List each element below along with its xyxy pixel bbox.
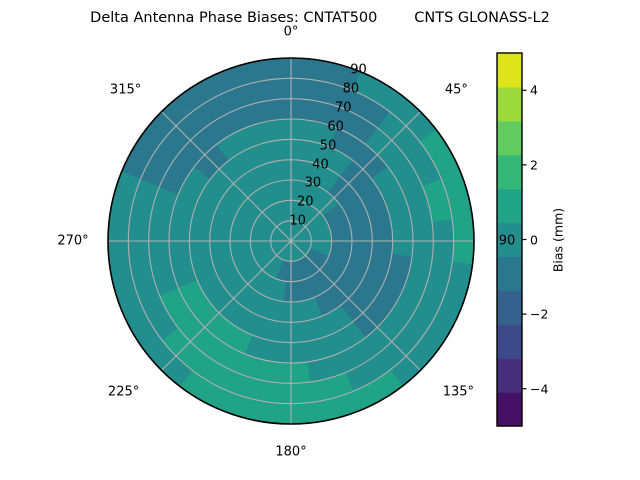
radial-tick-label: 60: [327, 119, 344, 134]
colorbar-tick-label: 4: [530, 83, 538, 98]
radial-tick-label: 90: [350, 63, 367, 78]
angular-tick-label: 45°: [445, 82, 468, 97]
angular-tick-label: 90: [499, 234, 516, 249]
radial-tick-label: 80: [343, 82, 360, 97]
angular-tick-label: 225°: [108, 385, 139, 400]
polar-grid: [108, 58, 474, 424]
angular-tick-label: 315°: [110, 82, 141, 97]
figure-canvas: Delta Antenna Phase Biases: CNTAT500 CNT…: [0, 0, 640, 480]
radial-tick-label: 50: [320, 138, 337, 153]
radial-tick-label: 30: [305, 176, 322, 191]
colorbar-title: Bias (mm): [551, 207, 566, 271]
colorbar-tick-label: −4: [530, 381, 548, 396]
angular-tick-label: 180°: [275, 445, 306, 460]
polar-plot: [0, 0, 640, 480]
colorbar-tick-label: 0: [530, 232, 538, 247]
colorbar-tick-label: 2: [530, 157, 538, 172]
radial-tick-label: 70: [335, 101, 352, 116]
angular-tick-label: 270°: [57, 234, 88, 249]
radial-tick-label: 40: [312, 157, 329, 172]
radial-tick-label: 20: [297, 195, 314, 210]
colorbar-tick-label: −2: [530, 307, 548, 322]
angular-tick-label: 135°: [443, 385, 474, 400]
radial-tick-label: 10: [289, 214, 306, 229]
angular-tick-label: 0°: [284, 25, 299, 40]
